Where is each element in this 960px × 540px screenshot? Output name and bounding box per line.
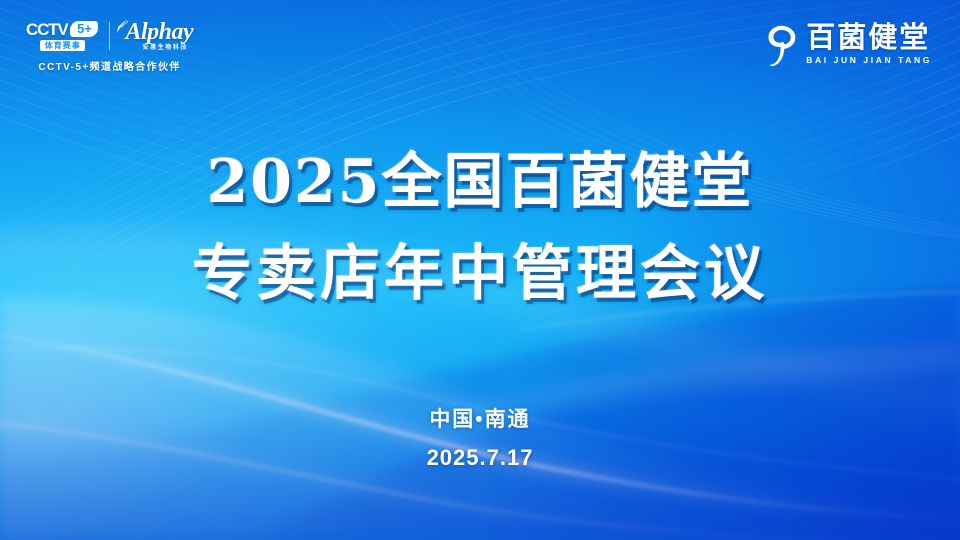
title-line-1: 2025全国百菌健堂 [0, 136, 960, 228]
cctv-wordmark: CCTV [26, 21, 67, 38]
event-location: 中国•南通 [0, 405, 960, 435]
cctv-channel-badge: 5+ [70, 21, 98, 37]
cctv-mark: CCTV 5+ [26, 21, 98, 38]
brand-logo: 百菌健堂 BAI JUN JIAN TANG [761, 22, 932, 66]
brand-name-block: 百菌健堂 BAI JUN JIAN TANG [806, 24, 932, 65]
partner-tagline: CCTV-5+频道战略合作伙伴 [38, 58, 180, 73]
logo-divider [109, 22, 110, 50]
brand-name-cn: 百菌健堂 [806, 24, 932, 53]
alphay-wordmark: Alphay [125, 19, 193, 45]
partner-logo-row: CCTV 5+ 体育赛事 Alphay 安惠生物科技 [26, 20, 193, 51]
slide-canvas: CCTV 5+ 体育赛事 Alphay 安惠生物科技 CCTV-5+频道战略合作… [0, 0, 960, 540]
alphay-wordmark-wrap: Alphay [121, 20, 193, 44]
partner-logo-group: CCTV 5+ 体育赛事 Alphay 安惠生物科技 CCTV-5+频道战略合作… [26, 20, 193, 73]
cctv-logo: CCTV 5+ 体育赛事 [26, 21, 98, 51]
footer-block: 中国•南通 2025.7.17 [0, 405, 960, 472]
event-date: 2025.7.17 [0, 444, 960, 472]
title-line-2: 专卖店年中管理会议 [0, 228, 960, 320]
title-block: 2025全国百菌健堂 专卖店年中管理会议 [0, 136, 960, 320]
alphay-swoosh-icon [116, 18, 129, 34]
alphay-logo: Alphay 安惠生物科技 [121, 20, 193, 51]
mushroom-icon [761, 22, 799, 66]
cctv-sub-label: 体育赛事 [40, 40, 85, 51]
alphay-sub-label: 安惠生物科技 [143, 45, 189, 51]
brand-name-en: BAI JUN JIAN TANG [806, 56, 932, 65]
